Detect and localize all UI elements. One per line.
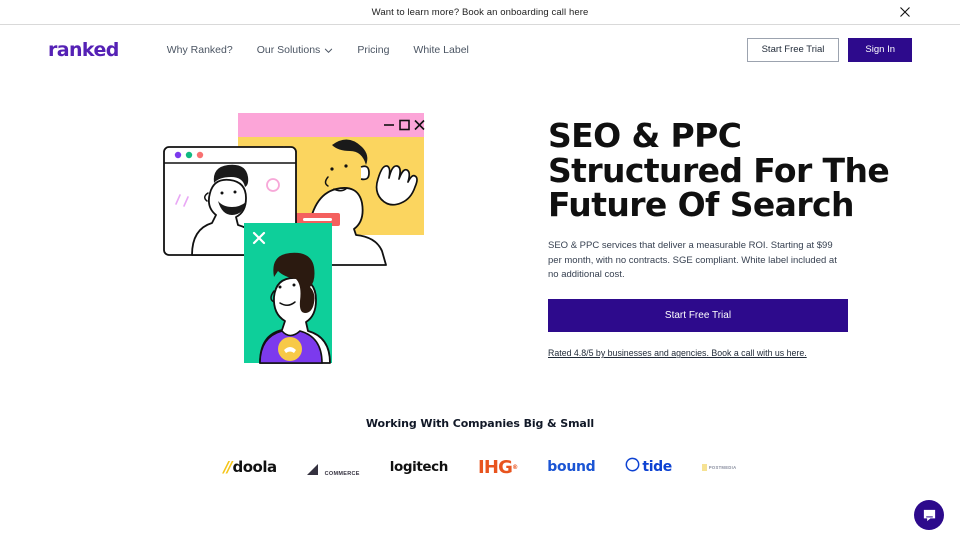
ihg-registered-icon: ® — [512, 464, 517, 471]
nav-label: White Label — [413, 44, 468, 56]
chat-widget-button[interactable] — [914, 500, 944, 530]
logo-bound: bound — [547, 456, 595, 478]
bigcommerce-mark-icon — [307, 464, 323, 478]
chat-bubble-icon — [922, 508, 937, 523]
browser-dot-red — [197, 152, 203, 158]
nav-item-our-solutions[interactable]: Our Solutions — [257, 44, 334, 56]
logo-doola: // doola — [224, 456, 277, 478]
brand-logo[interactable]: ranked — [48, 39, 119, 61]
nav-label: Why Ranked? — [167, 44, 233, 56]
postmedia-wordmark: POSTMEDIA — [709, 465, 737, 470]
nav-item-why-ranked[interactable]: Why Ranked? — [167, 44, 233, 56]
doola-wordmark: doola — [233, 458, 277, 476]
nav-item-white-label[interactable]: White Label — [413, 44, 468, 56]
browser-dot-green — [186, 152, 192, 158]
nav-item-pricing[interactable]: Pricing — [357, 44, 389, 56]
sign-in-button[interactable]: Sign In — [848, 38, 912, 62]
hero-start-free-trial-button[interactable]: Start Free Trial — [548, 299, 848, 332]
start-free-trial-button[interactable]: Start Free Trial — [747, 38, 840, 62]
headline-line-1: SEO & PPC — [548, 116, 741, 155]
announcement-text[interactable]: Want to learn more? Book an onboarding c… — [372, 7, 589, 18]
hero-subtext: SEO & PPC services that deliver a measur… — [548, 239, 848, 283]
announcement-banner: Want to learn more? Book an onboarding c… — [0, 0, 960, 25]
clients-heading: Working With Companies Big & Small — [0, 417, 960, 430]
tide-circle-icon — [625, 457, 640, 477]
client-logos-row: // doola COMMERCE logitech IHG® bound ti… — [0, 456, 960, 478]
hero-section: SEO & PPC Structured For The Future Of S… — [0, 97, 960, 367]
postmedia-mark-icon — [702, 464, 707, 471]
tide-wordmark: tide — [642, 459, 671, 475]
doola-slashes-icon: // — [224, 458, 231, 476]
logo-postmedia: POSTMEDIA — [702, 456, 737, 478]
bigcommerce-wordmark: COMMERCE — [325, 471, 360, 478]
nav-label: Pricing — [357, 44, 389, 56]
logo-bigcommerce: COMMERCE — [307, 456, 360, 478]
hero-copy: SEO & PPC Structured For The Future Of S… — [500, 97, 912, 367]
page-title: SEO & PPC Structured For The Future Of S… — [548, 119, 912, 223]
video-call-illustration — [156, 105, 426, 375]
chevron-down-icon — [324, 46, 333, 55]
headline-line-2: Structured For The — [548, 151, 889, 190]
hero-illustration — [48, 97, 500, 367]
browser-dot-purple — [175, 152, 181, 158]
headline-line-3: Future Of Search — [548, 185, 854, 224]
site-header: ranked Why Ranked? Our Solutions Pricing… — [0, 25, 960, 75]
ihg-wordmark: IHG — [478, 457, 512, 478]
green-call-card — [244, 223, 332, 363]
main-navigation: Why Ranked? Our Solutions Pricing White … — [167, 44, 469, 56]
header-actions: Start Free Trial Sign In — [747, 38, 912, 62]
clients-section: Working With Companies Big & Small // do… — [0, 417, 960, 478]
rated-review-link[interactable]: Rated 4.8/5 by businesses and agencies. … — [548, 348, 807, 358]
logo-logitech: logitech — [390, 456, 448, 478]
logo-ihg: IHG® — [478, 456, 517, 478]
close-icon[interactable] — [898, 5, 912, 19]
logo-tide: tide — [625, 456, 671, 478]
nav-label: Our Solutions — [257, 44, 321, 56]
